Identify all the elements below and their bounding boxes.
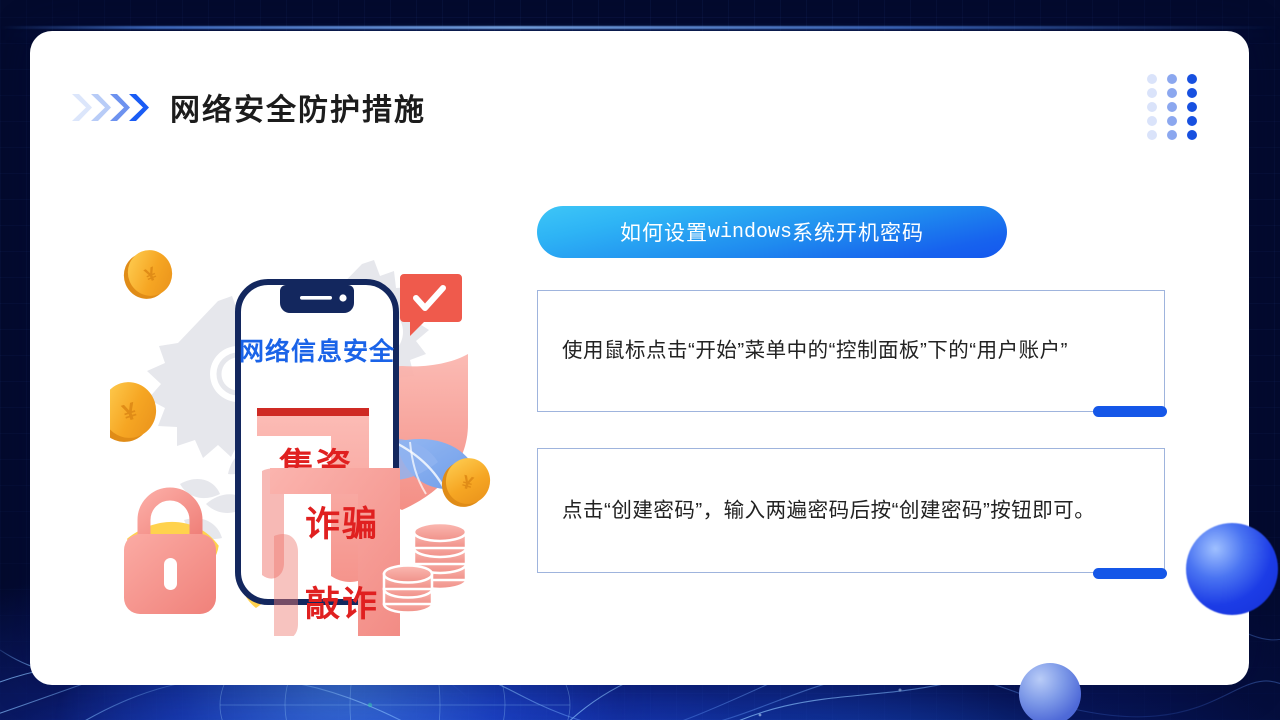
decorative-orb-small xyxy=(1019,663,1081,720)
decorative-orb-large xyxy=(1186,523,1278,615)
gold-coin-icon: ¥ xyxy=(110,375,163,449)
step-text-2: 点击“创建密码”，输入两遍密码后按“创建密码”按钮即可。 xyxy=(562,491,1095,531)
step-box-1: 使用鼠标点击“开始”菜单中的“控制面板”下的“用户账户” xyxy=(537,290,1165,412)
scroll-label-2: 诈骗 xyxy=(305,505,379,544)
gold-coin-icon: ¥ xyxy=(117,246,179,306)
heading-pill-latin: windows xyxy=(708,221,792,244)
coin-stack-icon xyxy=(384,566,432,613)
chevron-right-icon xyxy=(127,93,150,122)
dot-grid-decoration-icon xyxy=(1147,74,1207,144)
background-top-streak xyxy=(0,26,1280,29)
heading-pill-suffix: 系统开机密码 xyxy=(792,217,924,247)
chevron-group xyxy=(70,93,150,122)
illustration-svg: 网络信息安全 集资 诈骗 敲诈 xyxy=(110,246,500,636)
page-title: 网络安全防护措施 xyxy=(170,85,426,129)
step-text-1: 使用鼠标点击“开始”菜单中的“控制面板”下的“用户账户” xyxy=(562,331,1068,371)
page-title-row: 网络安全防护措施 xyxy=(70,85,426,129)
heading-pill[interactable]: 如何设置windows系统开机密码 xyxy=(537,206,1007,258)
phone-screen-title: 网络信息安全 xyxy=(239,337,395,366)
network-information-security-illustration: 网络信息安全 集资 诈骗 敲诈 xyxy=(110,246,500,636)
heading-pill-prefix: 如何设置 xyxy=(620,217,708,247)
padlock-icon xyxy=(124,494,216,614)
step-accent-bar-2 xyxy=(1093,568,1167,579)
step-box-2: 点击“创建密码”，输入两遍密码后按“创建密码”按钮即可。 xyxy=(537,448,1165,573)
step-accent-bar-1 xyxy=(1093,406,1167,417)
slide-card: 网络安全防护措施 如何设置windows系统开机密码 使用鼠标点击“开始”菜单中… xyxy=(30,31,1249,685)
scroll-label-3: 敲诈 xyxy=(305,585,379,624)
